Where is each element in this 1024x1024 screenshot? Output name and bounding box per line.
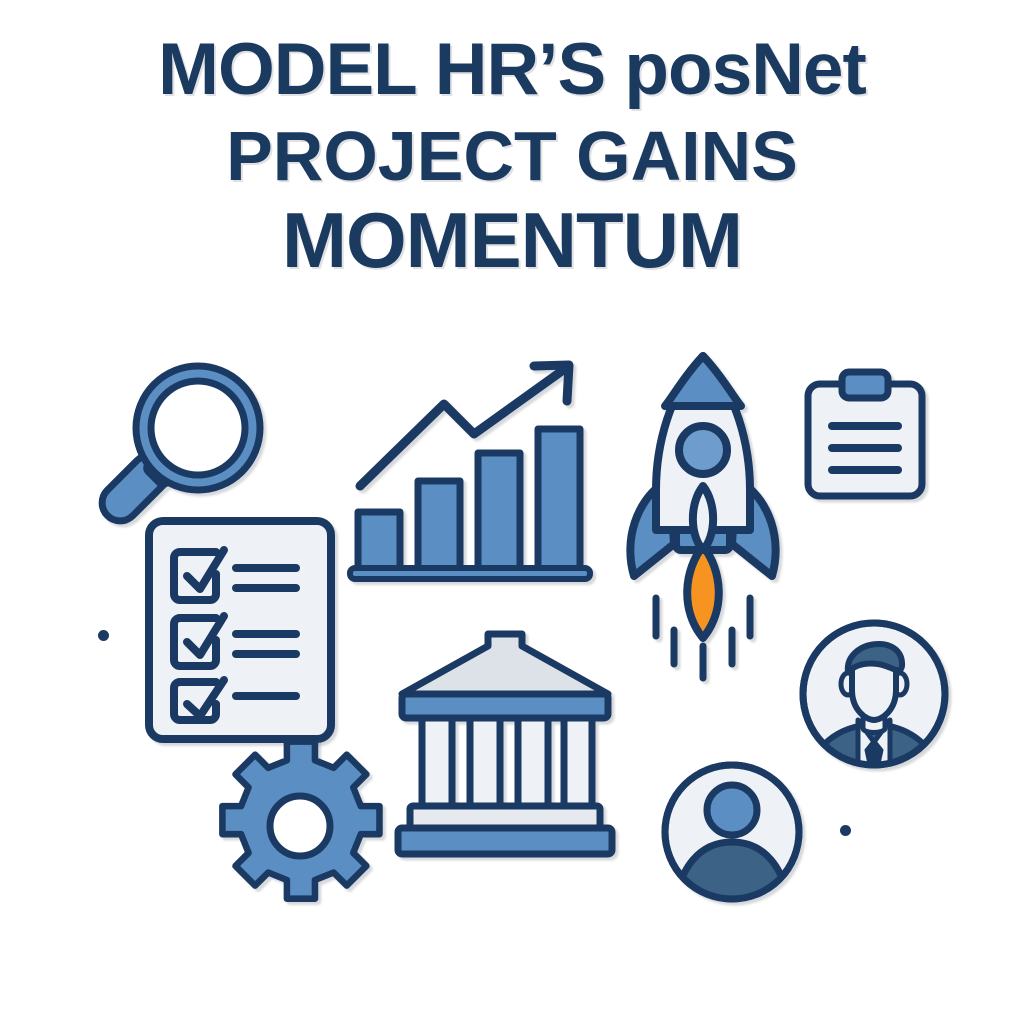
headline-line-1: MODEL HR’S posNet (0, 34, 1024, 106)
person-avatar-icon (796, 616, 952, 772)
poster-canvas: MODEL HR’S posNet PROJECT GAINS MOMENTUM (0, 0, 1024, 1024)
bar-2 (418, 481, 460, 572)
page-title: MODEL HR’S posNet PROJECT GAINS MOMENTUM (0, 34, 1024, 279)
headline-line-3: MOMENTUM (0, 202, 1024, 278)
checklist-icon (144, 516, 336, 744)
clipboard-icon (800, 368, 930, 502)
bar-3 (478, 453, 520, 572)
gear-icon (222, 748, 378, 904)
bar-4 (538, 429, 580, 572)
rocket-flame (687, 546, 719, 638)
user-avatar-icon (660, 758, 804, 906)
magnifier-icon (92, 352, 274, 534)
rocket-icon (612, 348, 794, 680)
bar-chart-icon (348, 356, 596, 588)
decorative-dot-left (98, 630, 109, 641)
bar-1 (358, 512, 400, 572)
bank-icon (392, 628, 618, 860)
headline-line-2: PROJECT GAINS (0, 122, 1024, 191)
decorative-dot-right (840, 825, 851, 836)
